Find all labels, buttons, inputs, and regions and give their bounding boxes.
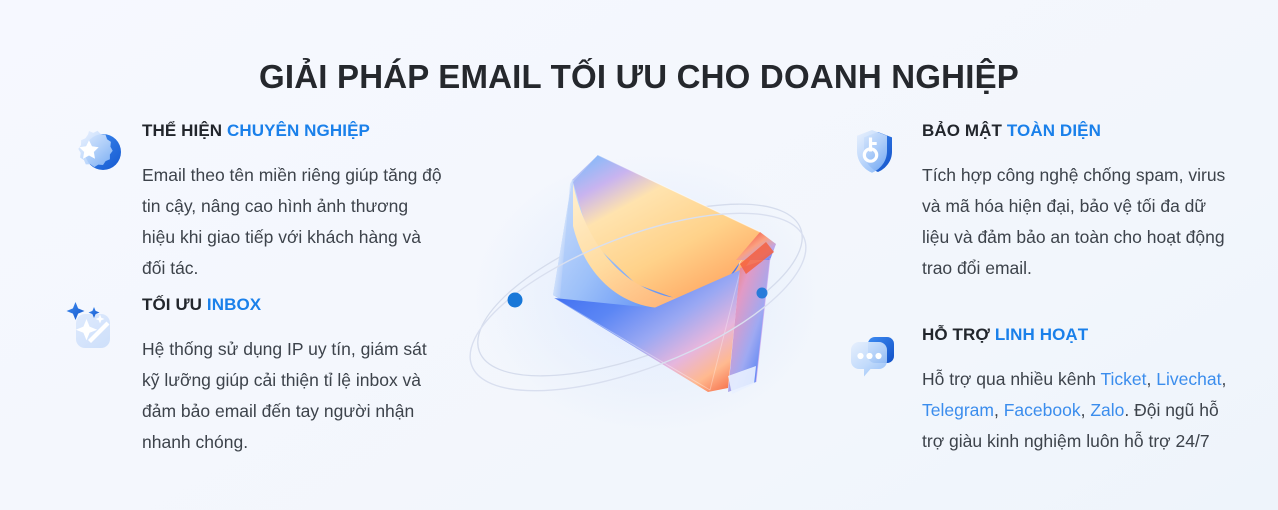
heading-prefix: TỐI ƯU xyxy=(142,295,202,314)
envelope-3d-illustration xyxy=(440,120,840,450)
feature-professional: THỂ HIỆN CHUYÊN NGHIỆP Email theo tên mi… xyxy=(62,120,442,301)
feature-support: HỖ TRỢ LINH HOẠT Hỗ trợ qua nhiều kênh T… xyxy=(842,324,1234,474)
shield-key-icon xyxy=(842,122,904,184)
orbit-dot-secondary xyxy=(757,288,768,299)
feature-professional-heading: THỂ HIỆN CHUYÊN NGHIỆP xyxy=(142,120,442,142)
support-channel-facebook[interactable]: Facebook xyxy=(1004,400,1081,420)
feature-support-heading: HỖ TRỢ LINH HOẠT xyxy=(922,324,1234,346)
heading-prefix: THỂ HIỆN xyxy=(142,121,222,140)
page-title: GIẢI PHÁP EMAIL TỐI ƯU CHO DOANH NGHIỆP xyxy=(0,56,1278,98)
orbit-dot xyxy=(508,293,523,308)
chat-bubble-dots-icon xyxy=(842,326,904,388)
heading-accent: LINH HOẠT xyxy=(995,325,1088,344)
star-badge-icon xyxy=(62,122,124,184)
support-sep-4: , xyxy=(1081,400,1091,420)
feature-support-text: HỖ TRỢ LINH HOẠT Hỗ trợ qua nhiều kênh T… xyxy=(922,324,1234,474)
support-channel-livechat[interactable]: Livechat xyxy=(1156,369,1221,389)
support-channel-zalo[interactable]: Zalo xyxy=(1090,400,1124,420)
heading-prefix: HỖ TRỢ xyxy=(922,325,990,344)
feature-security-text: BẢO MẬT TOÀN DIỆN Tích hợp công nghệ chố… xyxy=(922,120,1234,301)
feature-inbox-body: Hệ thống sử dụng IP uy tín, giám sát kỹ … xyxy=(142,334,442,458)
support-sep-1: , xyxy=(1147,369,1157,389)
feature-professional-text: THỂ HIỆN CHUYÊN NGHIỆP Email theo tên mi… xyxy=(142,120,442,301)
support-sep-3: , xyxy=(994,400,1004,420)
feature-inbox: TỐI ƯU INBOX Hệ thống sử dụng IP uy tín,… xyxy=(62,294,442,475)
support-sep-2: , xyxy=(1221,369,1226,389)
feature-security-heading: BẢO MẬT TOÀN DIỆN xyxy=(922,120,1234,142)
heading-accent: CHUYÊN NGHIỆP xyxy=(227,121,370,140)
feature-professional-body: Email theo tên miền riêng giúp tăng độ t… xyxy=(142,160,442,284)
heading-prefix: BẢO MẬT xyxy=(922,121,1002,140)
feature-security: BẢO MẬT TOÀN DIỆN Tích hợp công nghệ chố… xyxy=(842,120,1234,301)
heading-accent: TOÀN DIỆN xyxy=(1007,121,1101,140)
feature-inbox-text: TỐI ƯU INBOX Hệ thống sử dụng IP uy tín,… xyxy=(142,294,442,475)
feature-inbox-heading: TỐI ƯU INBOX xyxy=(142,294,442,316)
hero-section: GIẢI PHÁP EMAIL TỐI ƯU CHO DOANH NGHIỆP xyxy=(0,0,1278,510)
heading-accent: INBOX xyxy=(207,295,261,314)
support-channel-telegram[interactable]: Telegram xyxy=(922,400,994,420)
support-channel-ticket[interactable]: Ticket xyxy=(1101,369,1147,389)
feature-support-body: Hỗ trợ qua nhiều kênh Ticket, Livechat, … xyxy=(922,364,1234,457)
magic-wand-sparkle-icon xyxy=(62,296,124,358)
feature-security-body: Tích hợp công nghệ chống spam, virus và … xyxy=(922,160,1234,284)
support-body-part1: Hỗ trợ qua nhiều kênh xyxy=(922,369,1101,389)
